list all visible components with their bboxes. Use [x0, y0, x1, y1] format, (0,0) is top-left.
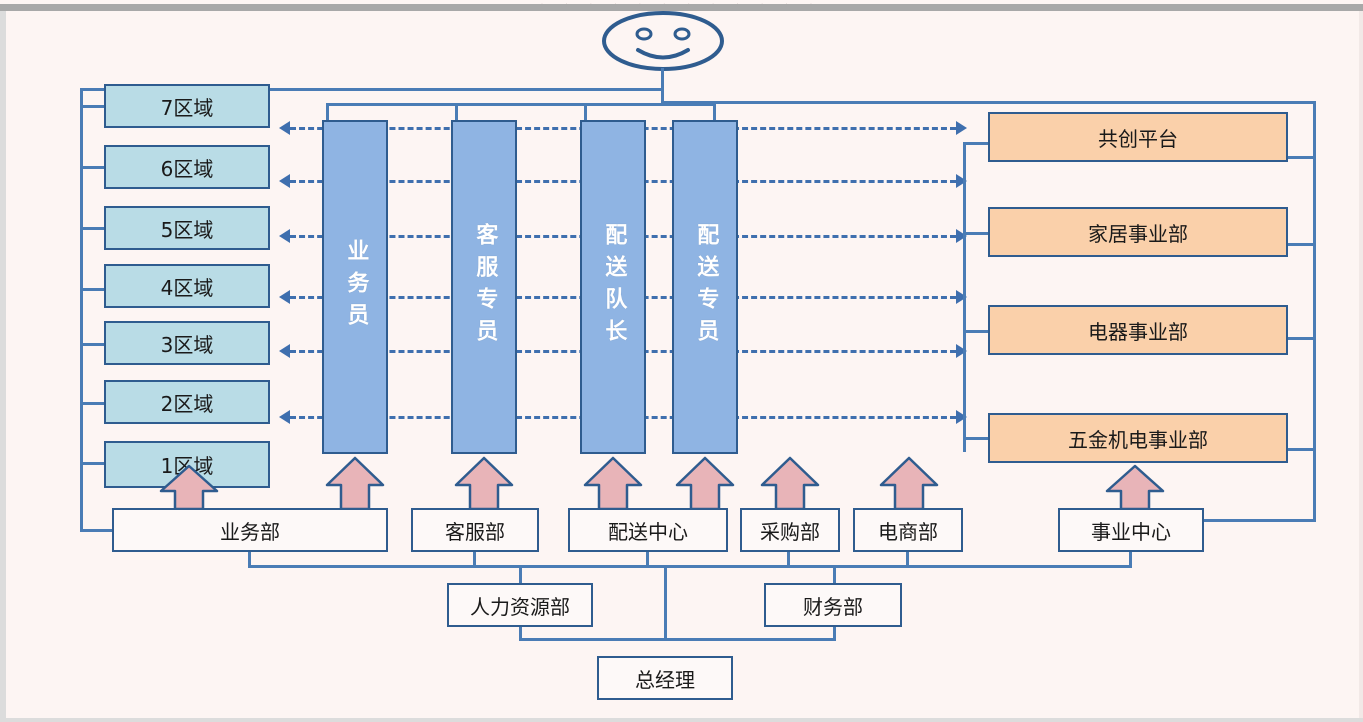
connector-role-drop-0 — [326, 103, 329, 121]
connector-region-branch-5 — [80, 402, 106, 405]
dashed-arrowhead-right-0 — [956, 121, 967, 135]
business-unit-co-creation-platform[interactable]: 共创平台 — [988, 112, 1288, 162]
connector-role-drop-1 — [455, 103, 458, 121]
department-box-sales[interactable]: 业务部 — [112, 508, 388, 552]
region-box-7[interactable]: 7区域 — [104, 84, 270, 128]
business-unit-appliance-division[interactable]: 电器事业部 — [988, 305, 1288, 355]
business-unit-home-division[interactable]: 家居事业部 — [988, 207, 1288, 257]
business-unit-label-2: 电器事业部 — [1088, 316, 1188, 345]
executive-label: 总经理 — [635, 664, 695, 693]
connector-root-stem — [661, 68, 664, 103]
department-label-5: 事业中心 — [1091, 516, 1171, 545]
left-rail — [0, 11, 6, 722]
department-box-procurement[interactable]: 采购部 — [740, 508, 840, 552]
up-arrow-sales-dept-to-role — [324, 455, 386, 511]
connector-business-bus-outer — [1313, 101, 1316, 522]
connector-gm-bus — [519, 638, 836, 641]
bottom-rail — [0, 718, 1363, 722]
smiley-face-icon — [600, 10, 726, 72]
up-arrow-service-dept-to-role — [453, 455, 515, 511]
up-arrow-procurement-dept — [759, 455, 821, 511]
support-box-hr[interactable]: 人力资源部 — [447, 583, 593, 627]
role-label-salesperson: 业务员 — [342, 239, 369, 335]
region-label-6: 6区域 — [161, 153, 214, 182]
region-box-3[interactable]: 3区域 — [104, 321, 270, 365]
org-chart-diagram: · · · · · · · · · · · · 7区域 6区域 5区域 4区域 … — [0, 0, 1363, 722]
support-box-finance[interactable]: 财务部 — [764, 583, 902, 627]
connector-business-branch-in-0 — [963, 142, 990, 145]
connector-region-branch-1 — [80, 166, 106, 169]
connector-region-bus — [80, 88, 83, 532]
connector-business-branch-in-3 — [963, 437, 990, 440]
department-label-4: 电商部 — [878, 516, 938, 545]
role-column-salesperson[interactable]: 业务员 — [322, 120, 388, 454]
dashed-arrowhead-left-0 — [279, 121, 290, 135]
business-unit-hardware-electrical-division[interactable]: 五金机电事业部 — [988, 413, 1288, 463]
region-box-4[interactable]: 4区域 — [104, 264, 270, 308]
up-arrow-region-to-sales-dept — [158, 463, 220, 511]
connector-dept-bus — [248, 565, 1132, 568]
connector-support-center-drop — [664, 565, 667, 640]
connector-region-branch-0 — [80, 105, 106, 108]
dashed-arrowhead-left-5 — [279, 410, 290, 424]
connector-region-branch-3 — [80, 288, 106, 291]
dashed-arrowhead-left-1 — [279, 174, 290, 188]
up-arrow-delivery-center-to-captain — [582, 455, 644, 511]
connector-business-bus-foot — [1203, 519, 1316, 522]
dashed-arrowhead-left-2 — [279, 229, 290, 243]
department-box-ecommerce[interactable]: 电商部 — [853, 508, 963, 552]
connector-region-bus-foot — [80, 529, 114, 532]
connector-business-bus-inner — [963, 142, 966, 452]
connector-root-right — [661, 101, 1315, 104]
support-label-1: 财务部 — [803, 591, 863, 620]
up-arrow-ecommerce-dept — [878, 455, 940, 511]
connector-business-branch-out-0 — [1288, 156, 1316, 159]
region-label-7: 7区域 — [161, 92, 214, 121]
connector-region-branch-4 — [80, 343, 106, 346]
region-box-6[interactable]: 6区域 — [104, 145, 270, 189]
region-label-4: 4区域 — [161, 272, 214, 301]
department-box-business-center[interactable]: 事业中心 — [1058, 508, 1204, 552]
region-box-2[interactable]: 2区域 — [104, 380, 270, 424]
role-column-delivery-specialist[interactable]: 配送专员 — [672, 120, 738, 454]
region-box-5[interactable]: 5区域 — [104, 206, 270, 250]
department-box-delivery-center[interactable]: 配送中心 — [568, 508, 728, 552]
connector-business-branch-in-2 — [963, 330, 990, 333]
connector-region-branch-2 — [80, 227, 106, 230]
role-column-delivery-captain[interactable]: 配送队长 — [580, 120, 646, 454]
region-label-3: 3区域 — [161, 329, 214, 358]
region-label-5: 5区域 — [161, 214, 214, 243]
department-label-2: 配送中心 — [608, 516, 688, 545]
department-box-customer-service[interactable]: 客服部 — [411, 508, 539, 552]
dashed-arrowhead-left-3 — [279, 290, 290, 304]
business-unit-label-1: 家居事业部 — [1088, 218, 1188, 247]
business-unit-label-3: 五金机电事业部 — [1068, 424, 1208, 453]
up-arrow-delivery-center-to-specialist — [674, 455, 736, 511]
connector-role-bus — [326, 103, 715, 106]
connector-business-branch-out-1 — [1288, 243, 1316, 246]
connector-business-branch-in-1 — [963, 232, 990, 235]
role-column-customer-service[interactable]: 客服专员 — [451, 120, 517, 454]
connector-support-drop-hr — [519, 565, 522, 584]
role-label-delivery-captain: 配送队长 — [600, 223, 627, 351]
dashed-arrowhead-left-4 — [279, 344, 290, 358]
connector-support-drop-finance — [833, 565, 836, 584]
connector-role-drop-3 — [713, 103, 716, 121]
executive-box-general-manager[interactable]: 总经理 — [597, 656, 733, 700]
connector-region-branch-6 — [80, 462, 106, 465]
up-arrow-business-center-to-units — [1104, 463, 1166, 511]
support-label-0: 人力资源部 — [470, 591, 570, 620]
role-label-delivery-specialist: 配送专员 — [692, 223, 719, 351]
region-label-2: 2区域 — [161, 388, 214, 417]
department-label-0: 业务部 — [220, 516, 280, 545]
connector-business-branch-out-2 — [1288, 337, 1316, 340]
right-rail — [1359, 11, 1363, 722]
department-label-3: 采购部 — [760, 516, 820, 545]
connector-business-branch-out-3 — [1288, 448, 1316, 451]
department-label-1: 客服部 — [445, 516, 505, 545]
business-unit-label-0: 共创平台 — [1098, 123, 1178, 152]
connector-role-drop-2 — [584, 103, 587, 121]
role-label-customer-service: 客服专员 — [471, 223, 498, 351]
